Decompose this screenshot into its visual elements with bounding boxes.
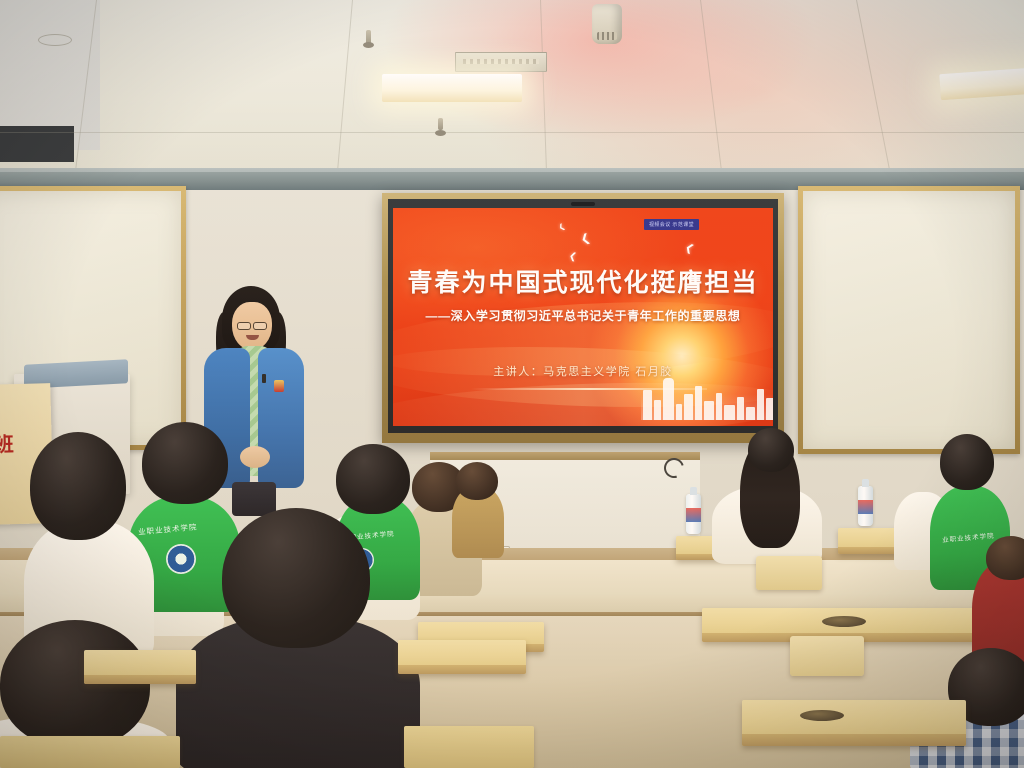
ceiling-seam [700,0,722,175]
whiteboard-right [798,186,1020,454]
chair [790,636,864,676]
ceiling-light-panel [939,66,1024,100]
slide-subtitle: ——深入学习贯彻习近平总书记关于青年工作的重要思想 [393,307,773,324]
student-head [222,508,370,648]
banner-text: 班 [0,428,14,458]
city-skyline-icon [641,362,773,420]
student-head [940,434,994,490]
dove-icon: ❮ [568,251,577,261]
sprinkler-head [438,118,443,130]
glasses-icon [253,322,267,330]
speaker-trousers [232,482,276,516]
water-bottle [686,494,701,534]
camera-icon [571,202,595,206]
smoke-detector [592,4,622,44]
ceiling-seam [856,0,891,173]
water-bottle [858,486,873,526]
student-head [986,536,1024,580]
wall-rail-highlight [0,168,1024,172]
student-desk [742,700,966,746]
vest-text: 业职业技术学院 [138,521,198,537]
party-emblem-pin [274,380,284,392]
speaker-mouth [246,335,259,340]
speaker-hands [240,446,270,468]
school-crest [166,544,196,574]
lecture-hall-photo: 视频会议 示范课堂 ❮ ❮ ❮ ❮ 青春为中国式现代化挺膺担当 ——深入学习贯彻… [0,0,1024,768]
ceiling-seam [337,0,353,175]
bench-seat [404,726,534,768]
student-desk [398,640,526,674]
student-head [336,444,410,514]
speaker-jacket [258,348,304,488]
bench-seat [0,736,180,768]
lapel-microphone-icon [262,374,266,383]
ceiling-light-panel [382,74,522,102]
ceiling-seam [540,0,547,176]
dove-icon: ❮ [580,233,592,246]
student-head [456,462,498,500]
student-head [748,428,794,472]
student-desk [84,650,196,684]
desk-cable-hole [822,616,866,627]
ceiling [0,0,1024,176]
sprinkler-head [366,30,371,46]
air-vent [455,52,547,72]
slide-title: 青春为中国式现代化挺膺担当 [393,263,773,299]
desk-cable-hole [800,710,844,721]
ceiling-fixture-ring [38,34,72,46]
student-head [0,620,150,748]
student-head [30,432,126,540]
speaker-face [232,302,272,350]
status-badge: 视频会议 示范课堂 [644,219,699,230]
student-head [142,422,228,504]
chair [756,556,822,590]
dove-icon: ❮ [683,243,695,256]
led-display-frame: 视频会议 示范课堂 ❮ ❮ ❮ ❮ 青春为中国式现代化挺膺担当 ——深入学习贯彻… [382,193,784,443]
dove-icon: ❮ [558,223,567,232]
vest-text: 业职业技术学院 [942,530,995,545]
led-display-bezel: 视频会议 示范课堂 ❮ ❮ ❮ ❮ 青春为中国式现代化挺膺担当 ——深入学习贯彻… [388,199,778,433]
presentation-slide[interactable]: 视频会议 示范课堂 ❮ ❮ ❮ ❮ 青春为中国式现代化挺膺担当 ——深入学习贯彻… [393,208,773,426]
glasses-icon [237,322,251,330]
whiteboard-right-surface [803,191,1015,449]
ceiling-seam [0,132,1024,133]
